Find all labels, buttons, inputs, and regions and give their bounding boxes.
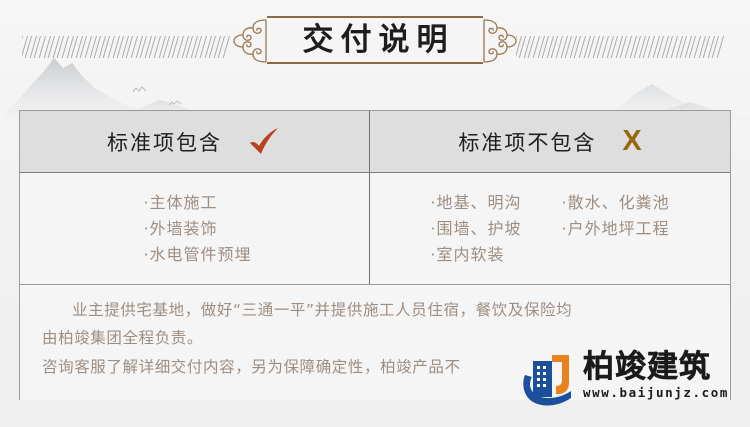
list-item: ·水电管件预埋: [143, 245, 251, 265]
title-frame: 交付说明: [249, 14, 501, 66]
list-item: ·地基、明沟: [430, 193, 521, 213]
excluded-item-column-2: ·散水、化粪池 ·户外地坪工程: [562, 193, 670, 265]
check-mark-icon: [248, 127, 282, 157]
diagonal-hatch-right: [516, 36, 728, 58]
excluded-items-cell: ·地基、明沟 ·围墙、护坡 ·室内软装 ·散水、化粪池 ·户外地坪工程: [370, 173, 730, 284]
excluded-header-label: 标准项不包含: [458, 127, 596, 157]
x-mark-icon: X: [622, 127, 641, 156]
list-item: ·室内软装: [430, 245, 521, 265]
header-banner: 交付说明: [0, 0, 750, 100]
watermark-brand: 柏竣建筑: [583, 351, 729, 384]
bird-icon: [168, 100, 182, 107]
note-line: 业主提供宅基地，做好“三通一平”并提供施工人员住宿，餐饮及保险均: [42, 299, 708, 321]
included-items-cell: ·主体施工 ·外墙装饰 ·水电管件预埋: [20, 173, 370, 284]
list-item: ·户外地坪工程: [562, 219, 670, 239]
included-header-cell: 标准项包含: [20, 111, 370, 172]
delivery-scope-infographic: 交付说明 标准项包含 标准项不包含 X: [0, 0, 750, 427]
excluded-item-column-1: ·地基、明沟 ·围墙、护坡 ·室内软装: [430, 193, 521, 265]
included-item-column: ·主体施工 ·外墙装饰 ·水电管件预埋: [143, 193, 251, 265]
table-body-row: ·主体施工 ·外墙装饰 ·水电管件预埋 ·地基、明沟 ·围墙、护坡 ·室内软装 …: [20, 173, 730, 285]
watermark: 柏竣建筑 www.baijunjz.com: [519, 351, 750, 423]
included-header-label: 标准项包含: [107, 127, 222, 157]
list-item: ·围墙、护坡: [430, 219, 521, 239]
table-header-row: 标准项包含 标准项不包含 X: [20, 111, 730, 173]
baijun-building-logo-icon: [519, 353, 581, 409]
excluded-header-cell: 标准项不包含 X: [370, 111, 730, 172]
page-title: 交付说明: [249, 14, 501, 66]
watermark-url: www.baijunjz.com: [583, 385, 729, 400]
list-item: ·外墙装饰: [143, 219, 251, 239]
note-line: 由柏竣集团全程负责。: [42, 327, 708, 349]
diagonal-hatch-left: [22, 36, 234, 58]
list-item: ·主体施工: [143, 193, 251, 213]
list-item: ·散水、化粪池: [562, 193, 670, 213]
